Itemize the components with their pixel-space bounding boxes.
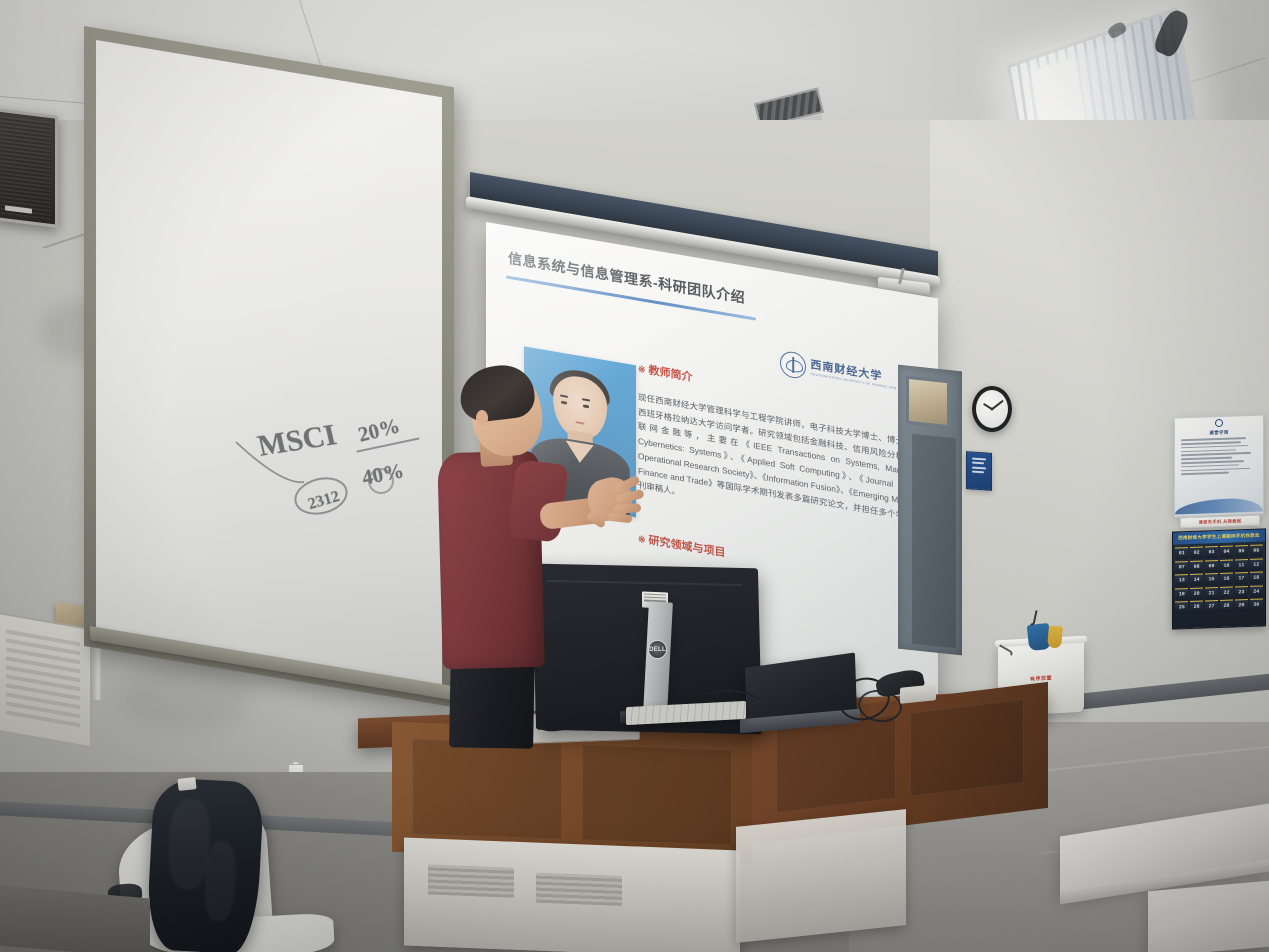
headshot-collar	[566, 441, 594, 466]
sign-text-line	[972, 462, 984, 465]
phone-pocket-20[interactable]: 20	[1190, 587, 1203, 599]
phone-pocket-16[interactable]: 16	[1220, 573, 1233, 585]
phone-pocket-15[interactable]: 15	[1205, 573, 1218, 585]
sign-text-line	[972, 470, 984, 473]
wall-speaker	[0, 108, 58, 228]
slide-heading-1-text: 教师简介	[649, 364, 693, 383]
wall-vent-panel	[0, 612, 92, 749]
phone-pocket-26[interactable]: 26	[1190, 601, 1203, 613]
door-window	[906, 376, 950, 429]
podium-base-left	[404, 838, 740, 952]
label-line	[644, 596, 666, 598]
poster-text-line	[1181, 449, 1236, 452]
phone-pocket-28[interactable]: 28	[1220, 600, 1233, 612]
phone-pocket-03[interactable]: 03	[1205, 546, 1218, 558]
bin-label: 有序放置	[1030, 675, 1052, 683]
jacket-on-chair	[146, 777, 265, 952]
poster-text-line	[1181, 452, 1251, 456]
phone-pocket-27[interactable]: 27	[1205, 600, 1218, 612]
whiteboard-arrow-line	[230, 420, 370, 510]
phone-pocket-30[interactable]: 30	[1250, 598, 1263, 610]
chair-clip	[177, 777, 196, 791]
monitor-groove	[546, 580, 742, 586]
presenter-finger	[614, 503, 642, 514]
door-panel[interactable]	[912, 434, 956, 649]
phone-pocket-22[interactable]: 22	[1220, 586, 1233, 598]
dell-badge-text: DELL	[649, 647, 666, 653]
phone-pocket-02[interactable]: 02	[1190, 547, 1203, 559]
speaker-grille	[1, 116, 51, 220]
slide-body-paragraph: 现任西南财经大学管理科学与工程学院讲师，电子科技大学博士、博士后，西班牙格拉纳达…	[638, 390, 921, 541]
podium-panel	[776, 714, 896, 813]
slide-heading-2: ※研究领域与项目	[638, 530, 726, 561]
dell-logo-icon: DELL	[648, 640, 667, 659]
phone-storage-board: 西南财经大学学生上课期间手机存放处 0102030405060708091011…	[1172, 528, 1266, 629]
phone-pocket-18[interactable]: 18	[1250, 571, 1263, 583]
wall-stain	[120, 660, 250, 730]
phone-pocket-29[interactable]: 29	[1235, 599, 1248, 611]
phone-pocket-24[interactable]: 24	[1250, 585, 1263, 597]
bullet-star-icon: ※	[638, 534, 646, 545]
phone-pocket-01[interactable]: 01	[1175, 547, 1188, 559]
podium-vent	[536, 873, 622, 906]
phone-pocket-08[interactable]: 08	[1190, 560, 1203, 572]
blue-wall-sign	[966, 451, 992, 491]
phone-pocket-10[interactable]: 10	[1220, 559, 1233, 571]
presenter-ear	[476, 410, 488, 426]
jacket-fold	[203, 840, 237, 921]
whiteboard-glare	[96, 40, 442, 685]
phone-pocket-09[interactable]: 09	[1205, 560, 1218, 572]
poster-title: 课堂守则	[1175, 428, 1263, 437]
phone-board-grid: 0102030405060708091011121314151617181920…	[1173, 542, 1265, 615]
side-desk-lower	[1148, 881, 1269, 952]
phone-pocket-25[interactable]: 25	[1175, 601, 1188, 613]
poster-text-line	[1181, 472, 1229, 475]
podium-panel	[910, 699, 1024, 797]
podium-vent	[428, 864, 514, 897]
phone-pocket-23[interactable]: 23	[1235, 585, 1248, 597]
slide-heading-2-text: 研究领域与项目	[649, 534, 726, 559]
wall-clock	[972, 386, 1012, 432]
poster-logo-icon	[1215, 419, 1223, 427]
phone-pocket-05[interactable]: 05	[1235, 545, 1248, 557]
phone-pocket-17[interactable]: 17	[1235, 572, 1248, 584]
vent-slats	[6, 629, 80, 728]
podium-panel	[582, 744, 732, 845]
podium-panel	[412, 738, 562, 839]
phone-pocket-06[interactable]: 06	[1250, 544, 1263, 556]
phone-pocket-04[interactable]: 04	[1220, 546, 1233, 558]
podium-base-right	[736, 809, 906, 943]
clock-center-pin	[991, 408, 994, 411]
phone-pocket-07[interactable]: 07	[1175, 561, 1188, 573]
poster-wave-graphic	[1175, 497, 1263, 514]
phone-pocket-12[interactable]: 12	[1250, 558, 1263, 570]
classroom-scene: MSCI 20% 40% 2312 信息系统与信息管理系-科研团队介绍 西南财经…	[0, 0, 1269, 952]
sign-text-line	[972, 466, 986, 469]
phone-pocket-11[interactable]: 11	[1235, 558, 1248, 570]
poster-text-line	[1181, 441, 1241, 445]
swufe-crest-icon	[780, 350, 806, 380]
phone-pocket-14[interactable]: 14	[1190, 574, 1203, 586]
phone-pocket-21[interactable]: 21	[1205, 587, 1218, 599]
poster-text-line	[1181, 445, 1248, 449]
slide-heading-1: ※教师简介	[638, 360, 693, 385]
poster-text-line	[1181, 468, 1250, 472]
poster-text-line	[1181, 457, 1232, 460]
bullet-star-icon: ※	[638, 364, 646, 375]
phone-pocket-13[interactable]: 13	[1175, 574, 1188, 586]
whiteboard-surface[interactable]	[96, 40, 442, 685]
classroom-rules-poster: 课堂守则	[1174, 414, 1264, 517]
label-line	[644, 593, 666, 595]
poster-text-line	[1181, 460, 1244, 464]
phone-pocket-19[interactable]: 19	[1175, 588, 1188, 600]
sign-text-line	[972, 458, 986, 461]
poster-text-line	[1181, 464, 1239, 468]
